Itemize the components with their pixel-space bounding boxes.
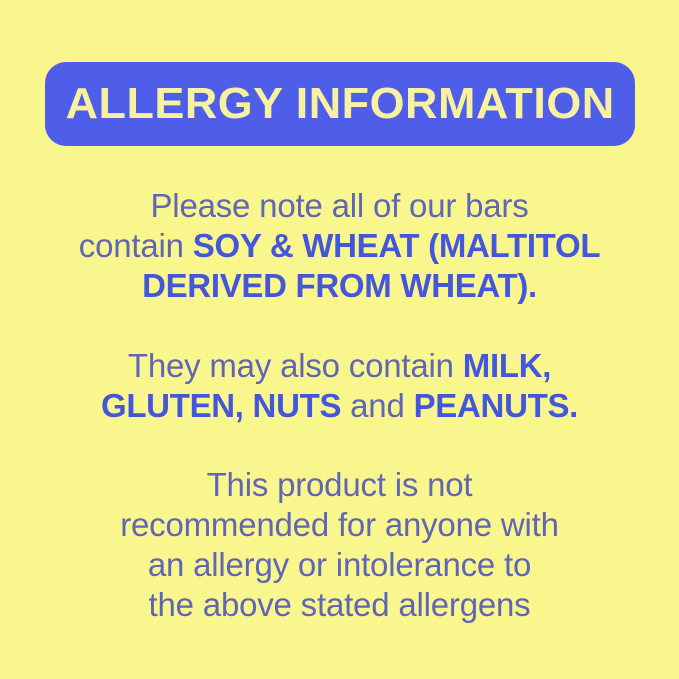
p1-allergens-soy-wheat: SOY & WHEAT (MALTITOL	[193, 227, 600, 264]
paragraph-1-line-2: contain SOY & WHEAT (MALTITOL	[79, 227, 600, 264]
p2-allergens-gluten-nuts: GLUTEN, NUTS	[101, 387, 341, 424]
p2-line2-conjunction: and	[341, 387, 413, 424]
paragraph-may-also-contain: They may also contain MILK, GLUTEN, NUTS…	[0, 346, 679, 426]
paragraph-not-recommended: This product is not recommended for anyo…	[0, 465, 679, 625]
p1-line2-lead: contain	[79, 227, 193, 264]
paragraph-3-line-3: an allergy or intolerance to	[148, 546, 531, 583]
paragraph-3-line-2: recommended for anyone with	[120, 506, 559, 543]
p2-allergen-peanuts: PEANUTS.	[414, 387, 578, 424]
paragraph-2-line-2: GLUTEN, NUTS and PEANUTS.	[101, 387, 578, 424]
page-title: ALLERGY INFORMATION	[65, 82, 614, 126]
paragraph-3-line-4: the above stated allergens	[149, 586, 531, 623]
p1-line1-text: Please note all of our bars	[151, 187, 529, 224]
p2-allergen-milk: MILK,	[463, 347, 551, 384]
paragraph-bars-contain: Please note all of our bars contain SOY …	[0, 186, 679, 306]
p2-line1-lead: They may also contain	[128, 347, 463, 384]
allergy-information-banner: ALLERGY INFORMATION	[45, 62, 635, 146]
paragraph-1-line-3: DERIVED FROM WHEAT).	[142, 267, 537, 304]
paragraph-1-line-1: Please note all of our bars	[151, 187, 529, 224]
paragraph-2-line-1: They may also contain MILK,	[128, 347, 551, 384]
allergy-body-copy: Please note all of our bars contain SOY …	[0, 186, 679, 625]
paragraph-3-line-1: This product is not	[207, 466, 473, 503]
p1-allergens-maltitol-note: DERIVED FROM WHEAT).	[142, 267, 537, 304]
allergy-information-card: ALLERGY INFORMATION Please note all of o…	[0, 0, 679, 679]
